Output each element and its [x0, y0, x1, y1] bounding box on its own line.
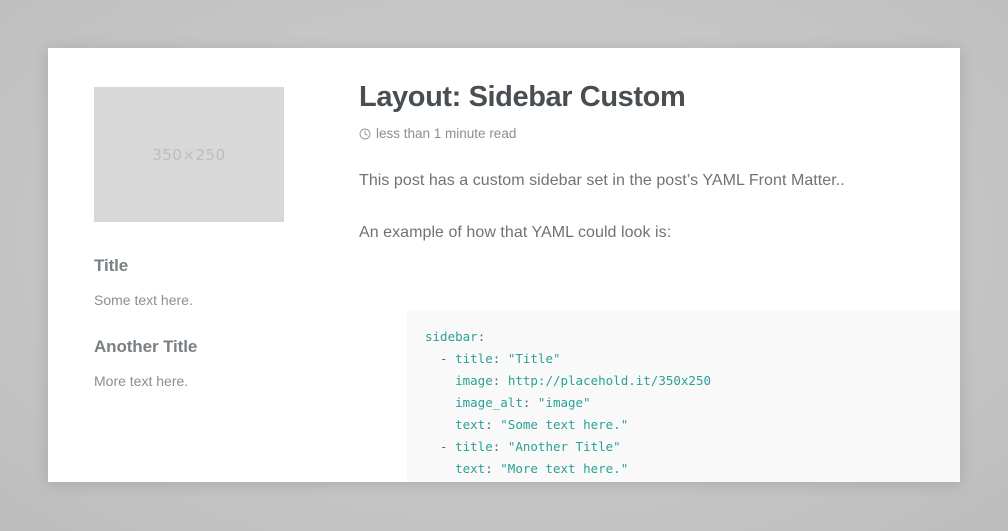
sidebar-block: Title Some text here. [94, 256, 304, 311]
code-token [425, 461, 455, 476]
code-token: http://placehold.it/350x250 [508, 373, 711, 388]
code-token: "Title" [508, 351, 561, 366]
code-token: image [455, 373, 493, 388]
read-time-label: less than 1 minute read [376, 126, 516, 141]
code-token: : [493, 351, 508, 366]
sidebar-block-title: Another Title [94, 337, 304, 357]
sidebar-block-text: More text here. [94, 371, 304, 392]
page-title: Layout: Sidebar Custom [359, 81, 960, 114]
code-token: "Another Title" [508, 439, 621, 454]
code-token: "Some text here." [500, 417, 628, 432]
code-token: : [485, 417, 500, 432]
code-token: text [455, 461, 485, 476]
code-token: : [478, 329, 486, 344]
code-block: sidebar: - title: "Title" image: http://… [407, 310, 960, 482]
article-paragraph: This post has a custom sidebar set in th… [359, 169, 960, 193]
sidebar-block-title: Title [94, 256, 304, 276]
code-token: title [455, 439, 493, 454]
code-token: : [485, 461, 500, 476]
code-token: "More text here." [500, 461, 628, 476]
sidebar-block-text: Some text here. [94, 290, 304, 311]
clock-icon [359, 128, 371, 140]
code-token [425, 417, 455, 432]
code-content: sidebar: - title: "Title" image: http://… [425, 326, 960, 480]
article-paragraph: An example of how that YAML could look i… [359, 221, 960, 245]
code-token: "image" [538, 395, 591, 410]
code-token: title [455, 351, 493, 366]
code-token: : [493, 439, 508, 454]
content-card: 350×250 Title Some text here. Another Ti… [48, 48, 960, 482]
code-token: : [523, 395, 538, 410]
code-token: sidebar [425, 329, 478, 344]
code-token: - [425, 439, 455, 454]
code-token: image_alt [455, 395, 523, 410]
post-article: Layout: Sidebar Custom less than 1 minut… [359, 81, 960, 482]
sidebar-block: Another Title More text here. [94, 337, 304, 392]
code-token [425, 373, 455, 388]
code-token: text [455, 417, 485, 432]
post-meta: less than 1 minute read [359, 126, 960, 141]
post-sidebar: 350×250 Title Some text here. Another Ti… [94, 87, 304, 418]
code-token: - [425, 351, 455, 366]
sidebar-placeholder-image: 350×250 [94, 87, 284, 222]
code-token: : [493, 373, 508, 388]
sidebar-image-label: 350×250 [152, 146, 225, 164]
code-token [425, 395, 455, 410]
